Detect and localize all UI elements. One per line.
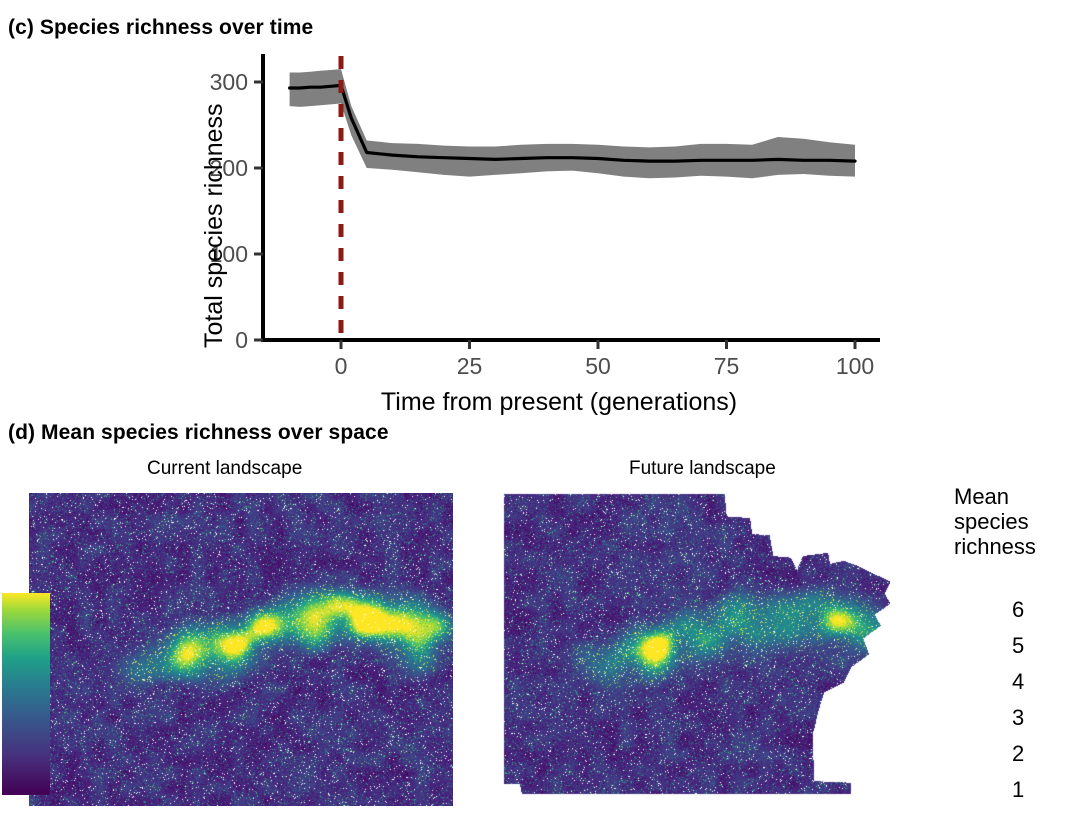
legend-title: Mean species richness (954, 484, 1074, 559)
map-subtitle-future: Future landscape (629, 458, 776, 480)
y-axis-label: Total species richness (200, 103, 229, 348)
legend-tick-mark (990, 791, 999, 793)
x-tick-label: 25 (457, 353, 483, 379)
legend-tick-mark (990, 647, 999, 649)
legend-tick-mark (990, 719, 999, 721)
legend-tick-mark (957, 791, 966, 793)
legend-tick-mark (957, 719, 966, 721)
x-tick-label: 100 (836, 353, 874, 379)
panel-c-title: (c) Species richness over time (8, 16, 313, 40)
legend-tick-mark (990, 611, 999, 613)
y-tick-label: 300 (210, 69, 248, 95)
species-richness-line-chart: 01002003000255075100 (0, 50, 900, 415)
legend-tick-label: 2 (1012, 741, 1024, 767)
x-tick-label: 0 (335, 353, 348, 379)
legend-title-line-1: Mean (954, 484, 1074, 509)
legend-tick-label: 4 (1012, 669, 1024, 695)
legend-tick-mark (957, 647, 966, 649)
legend-title-line-3: richness (954, 534, 1074, 559)
legend-title-line-2: species (954, 509, 1074, 534)
legend-tick-mark (990, 683, 999, 685)
x-tick-label: 75 (714, 353, 740, 379)
map-subtitle-current: Current landscape (147, 458, 302, 480)
panel-d-title: (d) Mean species richness over space (8, 421, 389, 445)
map-future-landscape (500, 489, 890, 806)
y-tick-label: 0 (235, 327, 248, 353)
legend-color-gradient (2, 593, 50, 795)
y-axis-label-wrap: Total species richness (178, 60, 208, 350)
map-current-landscape (29, 493, 453, 806)
legend-tick-label: 6 (1012, 597, 1024, 623)
line-chart-svg: 01002003000255075100 (0, 50, 900, 415)
legend-tick-mark (957, 611, 966, 613)
confidence-ribbon (290, 69, 855, 178)
legend-tick-label: 1 (1012, 777, 1024, 803)
legend-tick-label: 3 (1012, 705, 1024, 731)
legend-tick-mark (990, 755, 999, 757)
legend-tick-label: 5 (1012, 633, 1024, 659)
legend-tick-mark (957, 683, 966, 685)
map-future-raster (500, 489, 890, 806)
map-current-raster (29, 493, 453, 806)
x-tick-label: 50 (585, 353, 611, 379)
x-axis-label: Time from present (generations) (263, 388, 855, 417)
legend-tick-mark (957, 755, 966, 757)
